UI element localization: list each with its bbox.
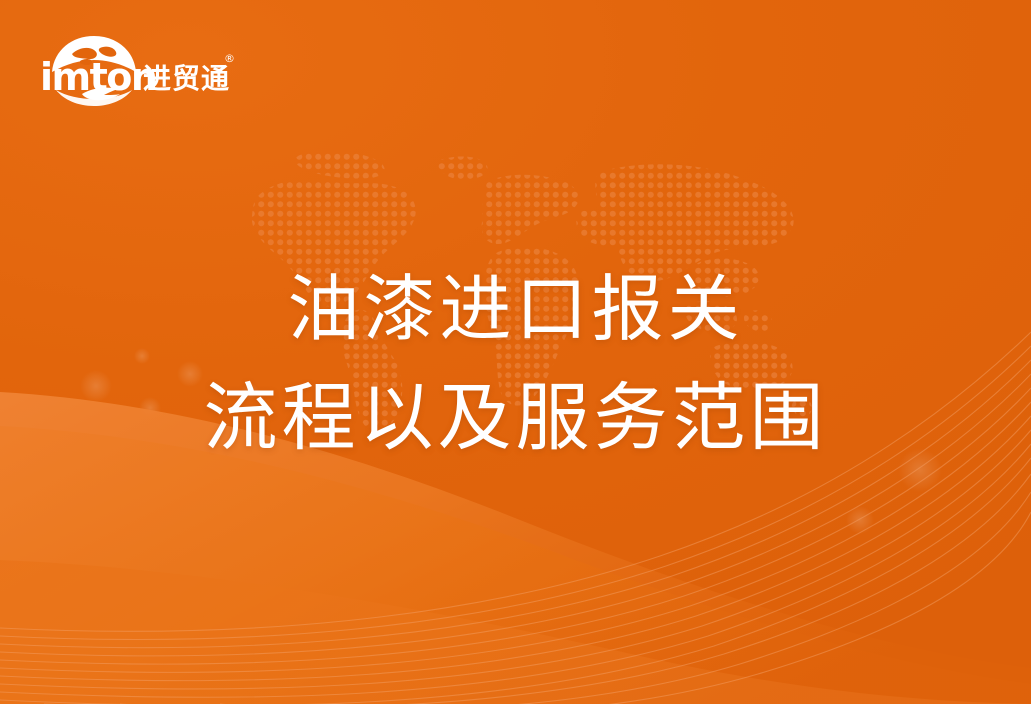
title-line-1: 油漆进口报关 (0, 258, 1031, 360)
logo-chinese-name: 进贸通 (143, 62, 230, 95)
svg-text:进贸通: 进贸通 (143, 62, 230, 95)
title-line-2: 流程以及服务范围 (0, 366, 1031, 471)
logo-mark: imton 进贸通 ® (38, 28, 238, 106)
logo-wordmark: imton (40, 55, 156, 99)
svg-text:imton: imton (40, 55, 156, 99)
registered-trademark-icon: ® (224, 52, 235, 65)
brand-logo[interactable]: imton 进贸通 ® (38, 28, 238, 106)
title-block: 油漆进口报关 流程以及服务范围 (0, 258, 1031, 471)
cover-slide: imton 进贸通 ® 油漆进口报关 流程以及服务范围 (0, 0, 1031, 704)
svg-text:®: ® (224, 52, 235, 65)
